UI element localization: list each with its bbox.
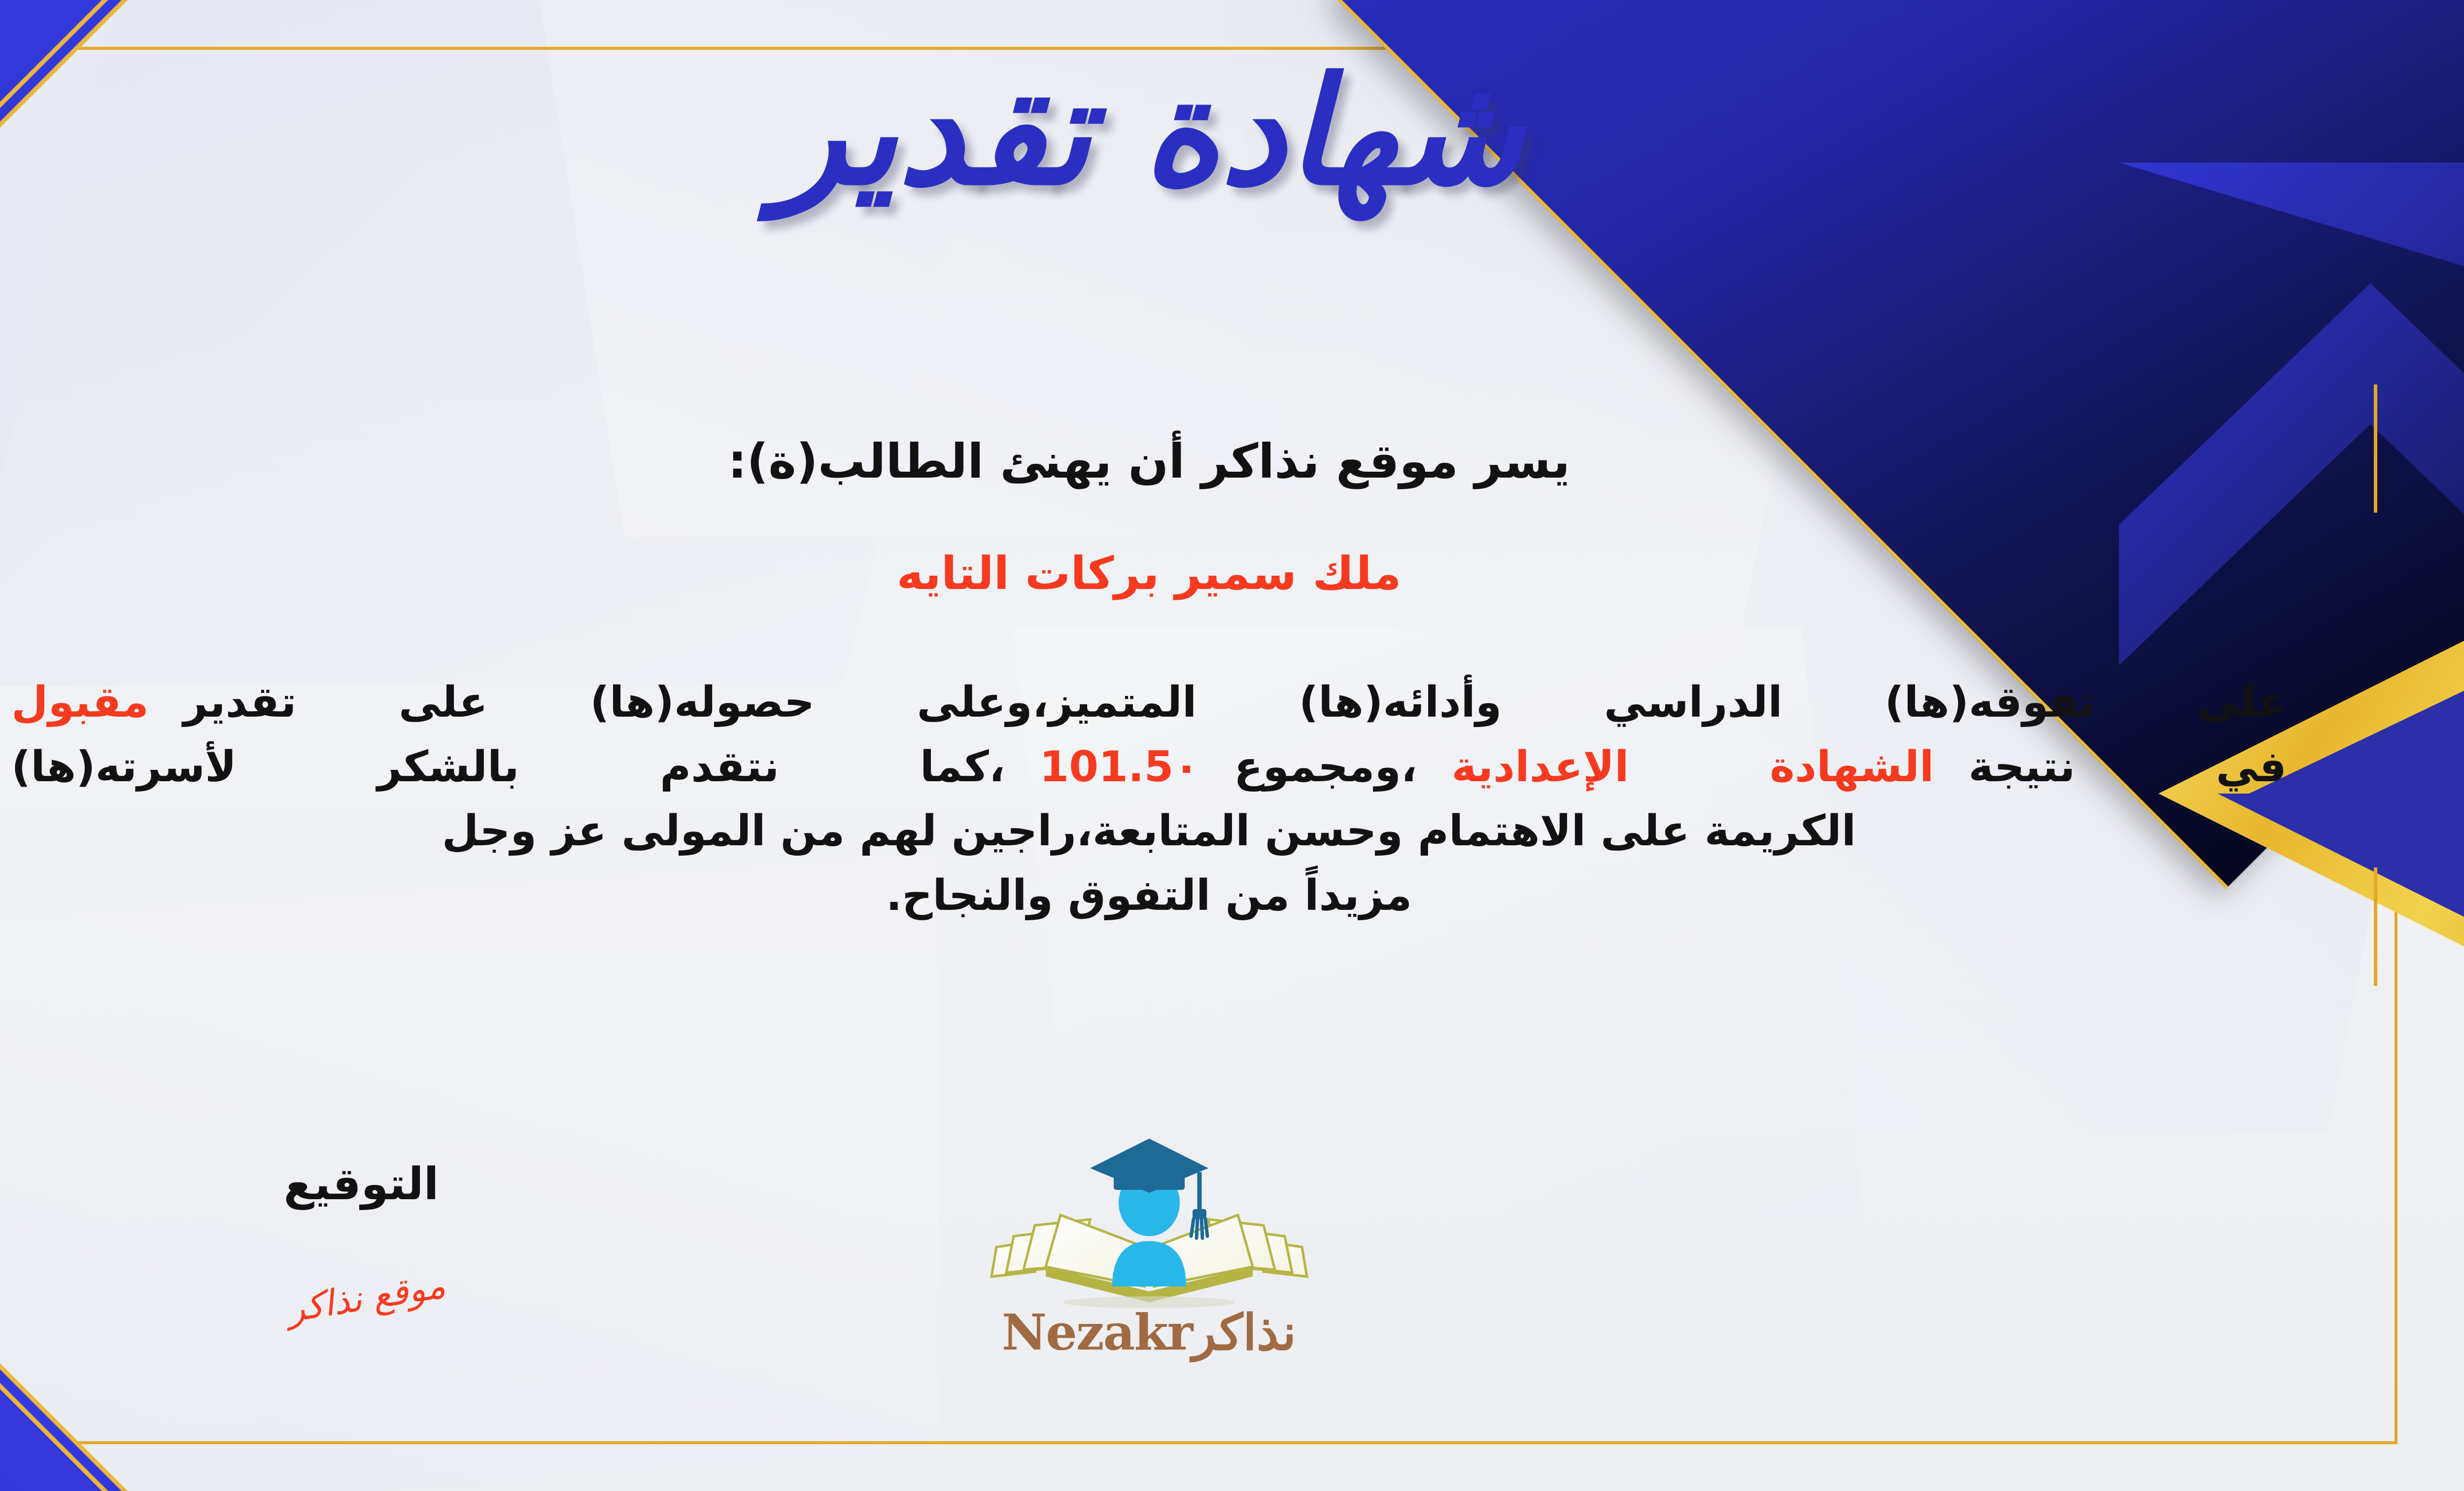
body-line-2: في نتيجةالشهادة الإعدادية،ومجموع101.5٠،ك… xyxy=(11,735,2287,799)
signature-mark: موقع نذاكر xyxy=(207,1252,525,1342)
body-line-2-prefix: في نتيجة xyxy=(1968,742,2287,792)
student-name: ملك سمير بركات التايه xyxy=(0,547,2464,600)
graduate-book-logo-icon xyxy=(977,1129,1322,1311)
body-line-1: على تفوقه(ها) الدراسي وأدائه(ها) المتميز… xyxy=(11,670,2287,735)
site-logo: نذاكرNezakr xyxy=(962,1129,1336,1361)
logo-latin-text: Nezakr xyxy=(1002,1303,1193,1361)
logo-wordmark: نذاكرNezakr xyxy=(962,1303,1336,1361)
body-line-3: الكريمة على الاهتمام وحسن المتابعة،راجين… xyxy=(11,799,2287,864)
body-paragraph: على تفوقه(ها) الدراسي وأدائه(ها) المتميز… xyxy=(11,670,2287,928)
certificate-content: شهادة تقدير يسر موقع نذاكر أن يهنئ الطال… xyxy=(0,0,2464,1491)
certificate-title: شهادة تقدير xyxy=(0,54,2464,209)
certificate-canvas: شهادة تقدير يسر موقع نذاكر أن يهنئ الطال… xyxy=(0,0,2464,1491)
body-line-1-text: على تفوقه(ها) الدراسي وأدائه(ها) المتميز… xyxy=(183,678,2287,727)
grade-value: مقبول xyxy=(11,678,149,727)
body-line-2-mid: ،ومجموع xyxy=(1234,742,1417,792)
exam-name: الشهادة الإعدادية xyxy=(1452,742,1934,792)
intro-text: يسر موقع نذاكر أن يهنئ الطالب(ة): xyxy=(0,434,2464,489)
signature-label: التوقيع xyxy=(189,1158,534,1210)
total-score: 101.5٠ xyxy=(1039,742,1199,792)
logo-arabic-text: نذاكر xyxy=(1192,1303,1296,1361)
body-line-4: مزيداً من التفوق والنجاح. xyxy=(11,864,2287,928)
body-line-2-suffix: ،كما نتقدم بالشكر لأسرته(ها) xyxy=(11,742,1005,792)
